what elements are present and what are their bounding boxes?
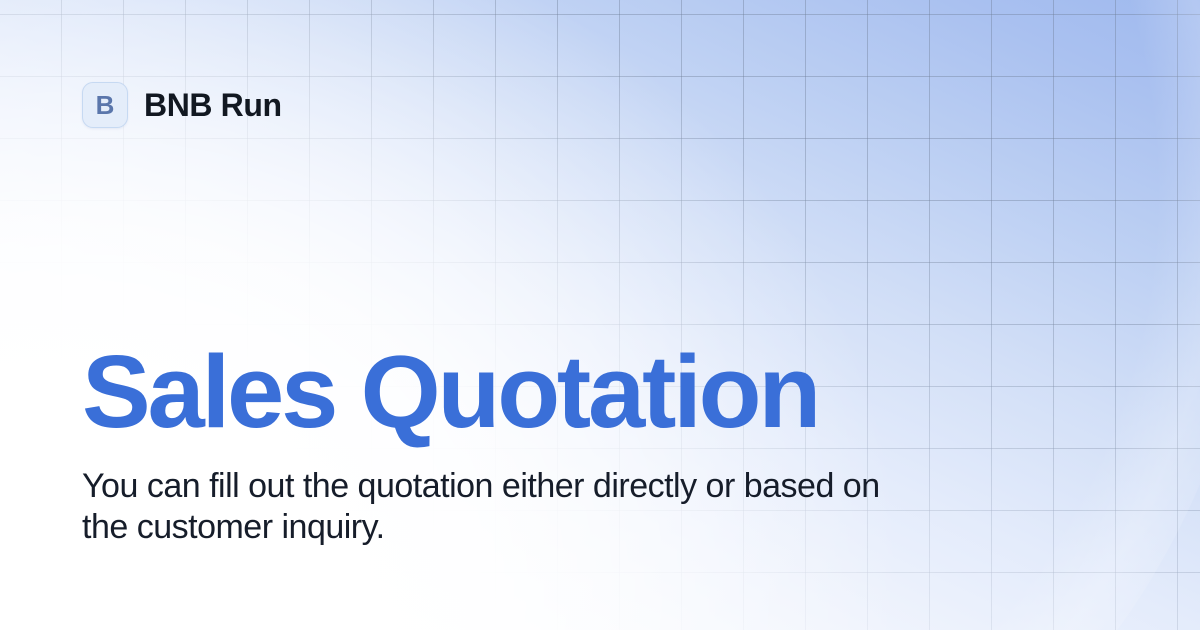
brand-lockup: B BNB Run bbox=[82, 82, 282, 128]
page-title: Sales Quotation bbox=[82, 340, 818, 443]
brand-name: BNB Run bbox=[144, 89, 282, 121]
letter-b-badge-icon: B bbox=[82, 82, 128, 128]
page-subtitle: You can fill out the quotation either di… bbox=[82, 466, 902, 548]
og-card: B BNB Run Sales Quotation You can fill o… bbox=[0, 0, 1200, 630]
card-content: B BNB Run Sales Quotation You can fill o… bbox=[0, 0, 1200, 630]
